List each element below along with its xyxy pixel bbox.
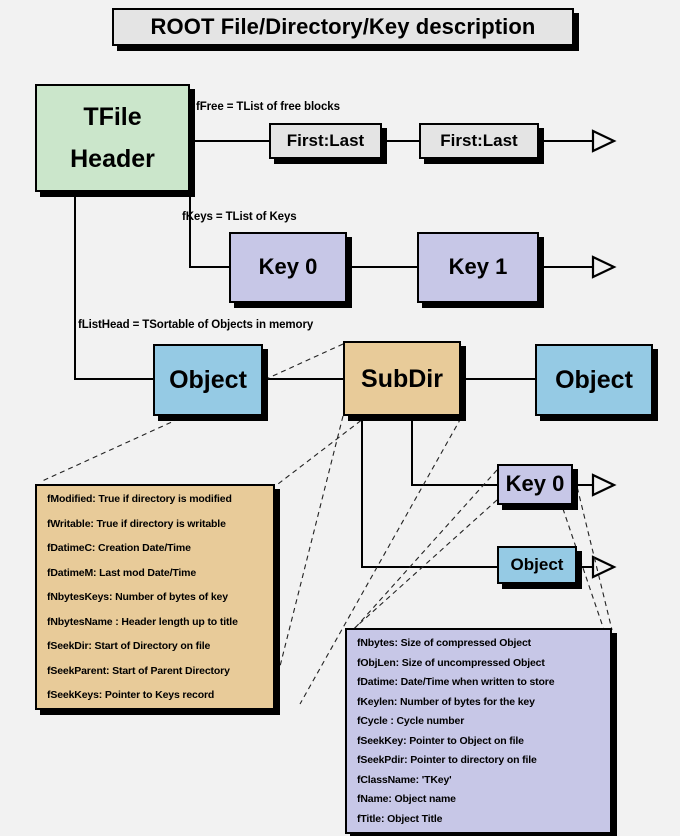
diagram-canvas: ROOT File/Directory/Key description TFil…	[0, 0, 680, 836]
node-subdir-key-0[interactable]: Key 0	[497, 464, 573, 505]
node-key-0[interactable]: Key 0	[229, 232, 347, 303]
directory-detail-row: fNbytesKeys: Number of bytes of key	[47, 591, 265, 603]
node-free-block-2[interactable]: First:Last	[419, 123, 539, 159]
tfile-label-line2: Header	[70, 145, 155, 173]
key-detail-row: fTitle: Object Title	[357, 813, 602, 825]
edge-label-flisthead: fListHead = TSortable of Objects in memo…	[78, 319, 313, 331]
key-detail-row: fClassName: 'TKey'	[357, 774, 602, 786]
directory-detail-row: fDatimeC: Creation Date/Time	[47, 542, 265, 554]
key-detail-row: fSeekPdir: Pointer to directory on file	[357, 754, 602, 766]
edge-label-ffree: fFree = TList of free blocks	[196, 101, 340, 113]
directory-detail-row: fSeekParent: Start of Parent Directory	[47, 665, 265, 677]
leader-key-topleft	[355, 470, 497, 628]
node-subdir[interactable]: SubDir	[343, 341, 461, 416]
key-detail-row: fCycle : Cycle number	[357, 715, 602, 727]
key-detail-row: fDatime: Date/Time when written to store	[357, 676, 602, 688]
directory-detail-row: fSeekDir: Start of Directory on file	[47, 640, 265, 652]
node-key-1[interactable]: Key 1	[417, 232, 539, 303]
node-free-block-1[interactable]: First:Last	[269, 123, 382, 159]
node-object-left[interactable]: Object	[153, 344, 263, 416]
node-object-right[interactable]: Object	[535, 344, 653, 416]
page-title: ROOT File/Directory/Key description	[112, 8, 574, 46]
wire-flisthead-stub	[75, 191, 153, 379]
arrowhead-fkeys	[593, 257, 614, 277]
arrowhead-subdir-key0	[593, 475, 614, 495]
leader-dir-bottom-inner	[270, 416, 343, 706]
directory-detail-row: fDatimeM: Last mod Date/Time	[47, 567, 265, 579]
tfile-label-gap	[70, 131, 155, 145]
wire-subdir-key0	[412, 416, 497, 485]
edge-label-fkeys: fKeys = TList of Keys	[182, 211, 297, 223]
tfile-label-line1: TFile	[70, 103, 155, 131]
wire-fkeys-stub	[190, 191, 229, 267]
key-detail-row: fKeylen: Number of bytes for the key	[357, 696, 602, 708]
node-subdir-object[interactable]: Object	[497, 546, 577, 584]
arrowhead-ffree	[593, 131, 614, 151]
node-tfile-header[interactable]: TFile Header	[35, 84, 190, 192]
key-detail-row: fObjLen: Size of uncompressed Object	[357, 657, 602, 669]
key-detail-row: fNbytes: Size of compressed Object	[357, 637, 602, 649]
directory-detail-row: fModified: True if directory is modified	[47, 493, 265, 505]
directory-detail-row: fSeekKeys: Pointer to Keys record	[47, 689, 265, 701]
key-detail-row: fSeekKey: Pointer to Object on file	[357, 735, 602, 747]
directory-detail-row: fWritable: True if directory is writable	[47, 518, 265, 530]
directory-detail-box: fModified: True if directory is modified…	[35, 484, 275, 710]
directory-detail-row: fNbytesName : Header length up to title	[47, 616, 265, 628]
key-detail-box: fNbytes: Size of compressed Object fObjL…	[345, 628, 612, 834]
key-detail-row: fName: Object name	[357, 793, 602, 805]
